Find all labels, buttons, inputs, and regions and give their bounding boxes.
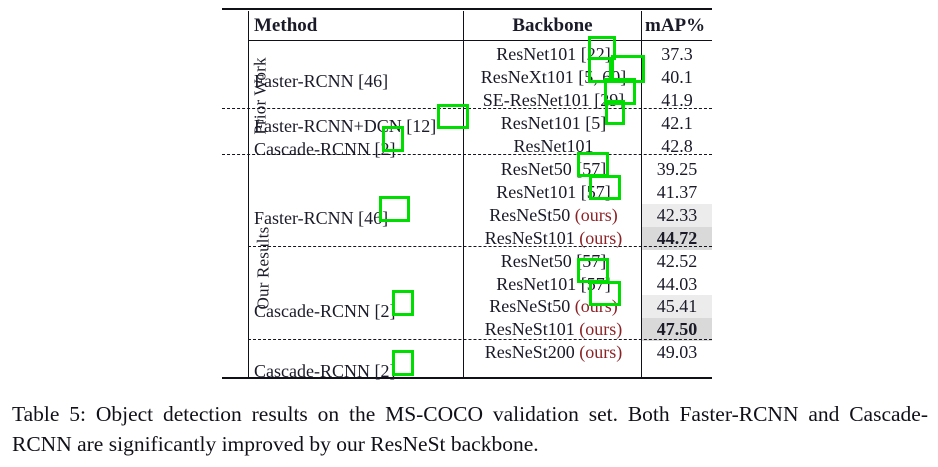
- cell-map-value: 49.03: [642, 341, 712, 364]
- column-header-map: mAP%: [645, 14, 711, 38]
- cell-backbone: ResNeSt200 (ours): [465, 341, 642, 364]
- cell-map-value: 37.3: [642, 43, 712, 66]
- header-underline: [248, 40, 712, 41]
- cell-backbone: ResNet101 [5]: [465, 112, 642, 135]
- ours-marker: (ours): [579, 342, 622, 362]
- cell-map-value: 39.25: [642, 158, 712, 181]
- cell-backbone: ResNet50 [57]: [465, 250, 642, 273]
- results-table: Prior Work Our Results Method Backbone m…: [222, 8, 712, 380]
- table-row: ResNet50 [57]42.52: [248, 250, 712, 273]
- dash-separator-4: [248, 339, 712, 340]
- table-row: ResNeXt101 [5, 60]40.1: [248, 66, 712, 89]
- cell-map-value: 40.1: [642, 66, 712, 89]
- table-row: ResNet101 [5]42.1: [248, 112, 712, 135]
- cell-backbone: ResNet101 [57]: [465, 181, 642, 204]
- ours-marker: (ours): [575, 205, 618, 225]
- cell-backbone: ResNeXt101 [5, 60]: [465, 66, 642, 89]
- cell-backbone: ResNet50 [57]: [465, 158, 642, 181]
- cell-backbone: ResNet101 [22]: [465, 43, 642, 66]
- dash-separator-1: [222, 108, 712, 109]
- table-top-rule: [222, 8, 712, 10]
- cell-map-value: 47.50: [642, 318, 712, 341]
- dash-separator-3: [248, 246, 712, 247]
- cell-map-value: 42.33: [642, 204, 712, 227]
- cell-map-value: 42.52: [642, 250, 712, 273]
- table-row: ResNeSt101 (ours)47.50: [248, 318, 712, 341]
- ours-marker: (ours): [579, 319, 622, 339]
- table-row: ResNeSt50 (ours)42.33: [248, 204, 712, 227]
- table-row: ResNeSt200 (ours)49.03: [248, 341, 712, 364]
- group-label-prior-work: Prior Work: [222, 86, 248, 106]
- table-row: ResNet101 [57]44.03: [248, 273, 712, 296]
- table-caption: Table 5: Object detection results on the…: [12, 399, 928, 459]
- cell-map-value: 42.1: [642, 112, 712, 135]
- table-row: ResNet101 [57]41.37: [248, 181, 712, 204]
- ours-marker: (ours): [575, 296, 618, 316]
- table-row: ResNeSt50 (ours)45.41: [248, 295, 712, 318]
- cell-backbone: ResNeSt50 (ours): [465, 295, 642, 318]
- column-header-backbone: Backbone: [465, 14, 640, 38]
- cell-backbone: ResNeSt101 (ours): [465, 318, 642, 341]
- cell-map-value: 45.41: [642, 295, 712, 318]
- table-row: ResNet50 [57]39.25: [248, 158, 712, 181]
- table-row: ResNet101 [22]37.3: [248, 43, 712, 66]
- dash-separator-2: [222, 154, 712, 155]
- cell-backbone: ResNet101 [57]: [465, 273, 642, 296]
- group-label-our-results: Our Results: [222, 258, 248, 278]
- cell-backbone: ResNeSt50 (ours): [465, 204, 642, 227]
- column-header-method: Method: [254, 14, 454, 38]
- ours-marker: (ours): [579, 228, 622, 248]
- cell-map-value: 44.03: [642, 273, 712, 296]
- cell-map-value: 41.37: [642, 181, 712, 204]
